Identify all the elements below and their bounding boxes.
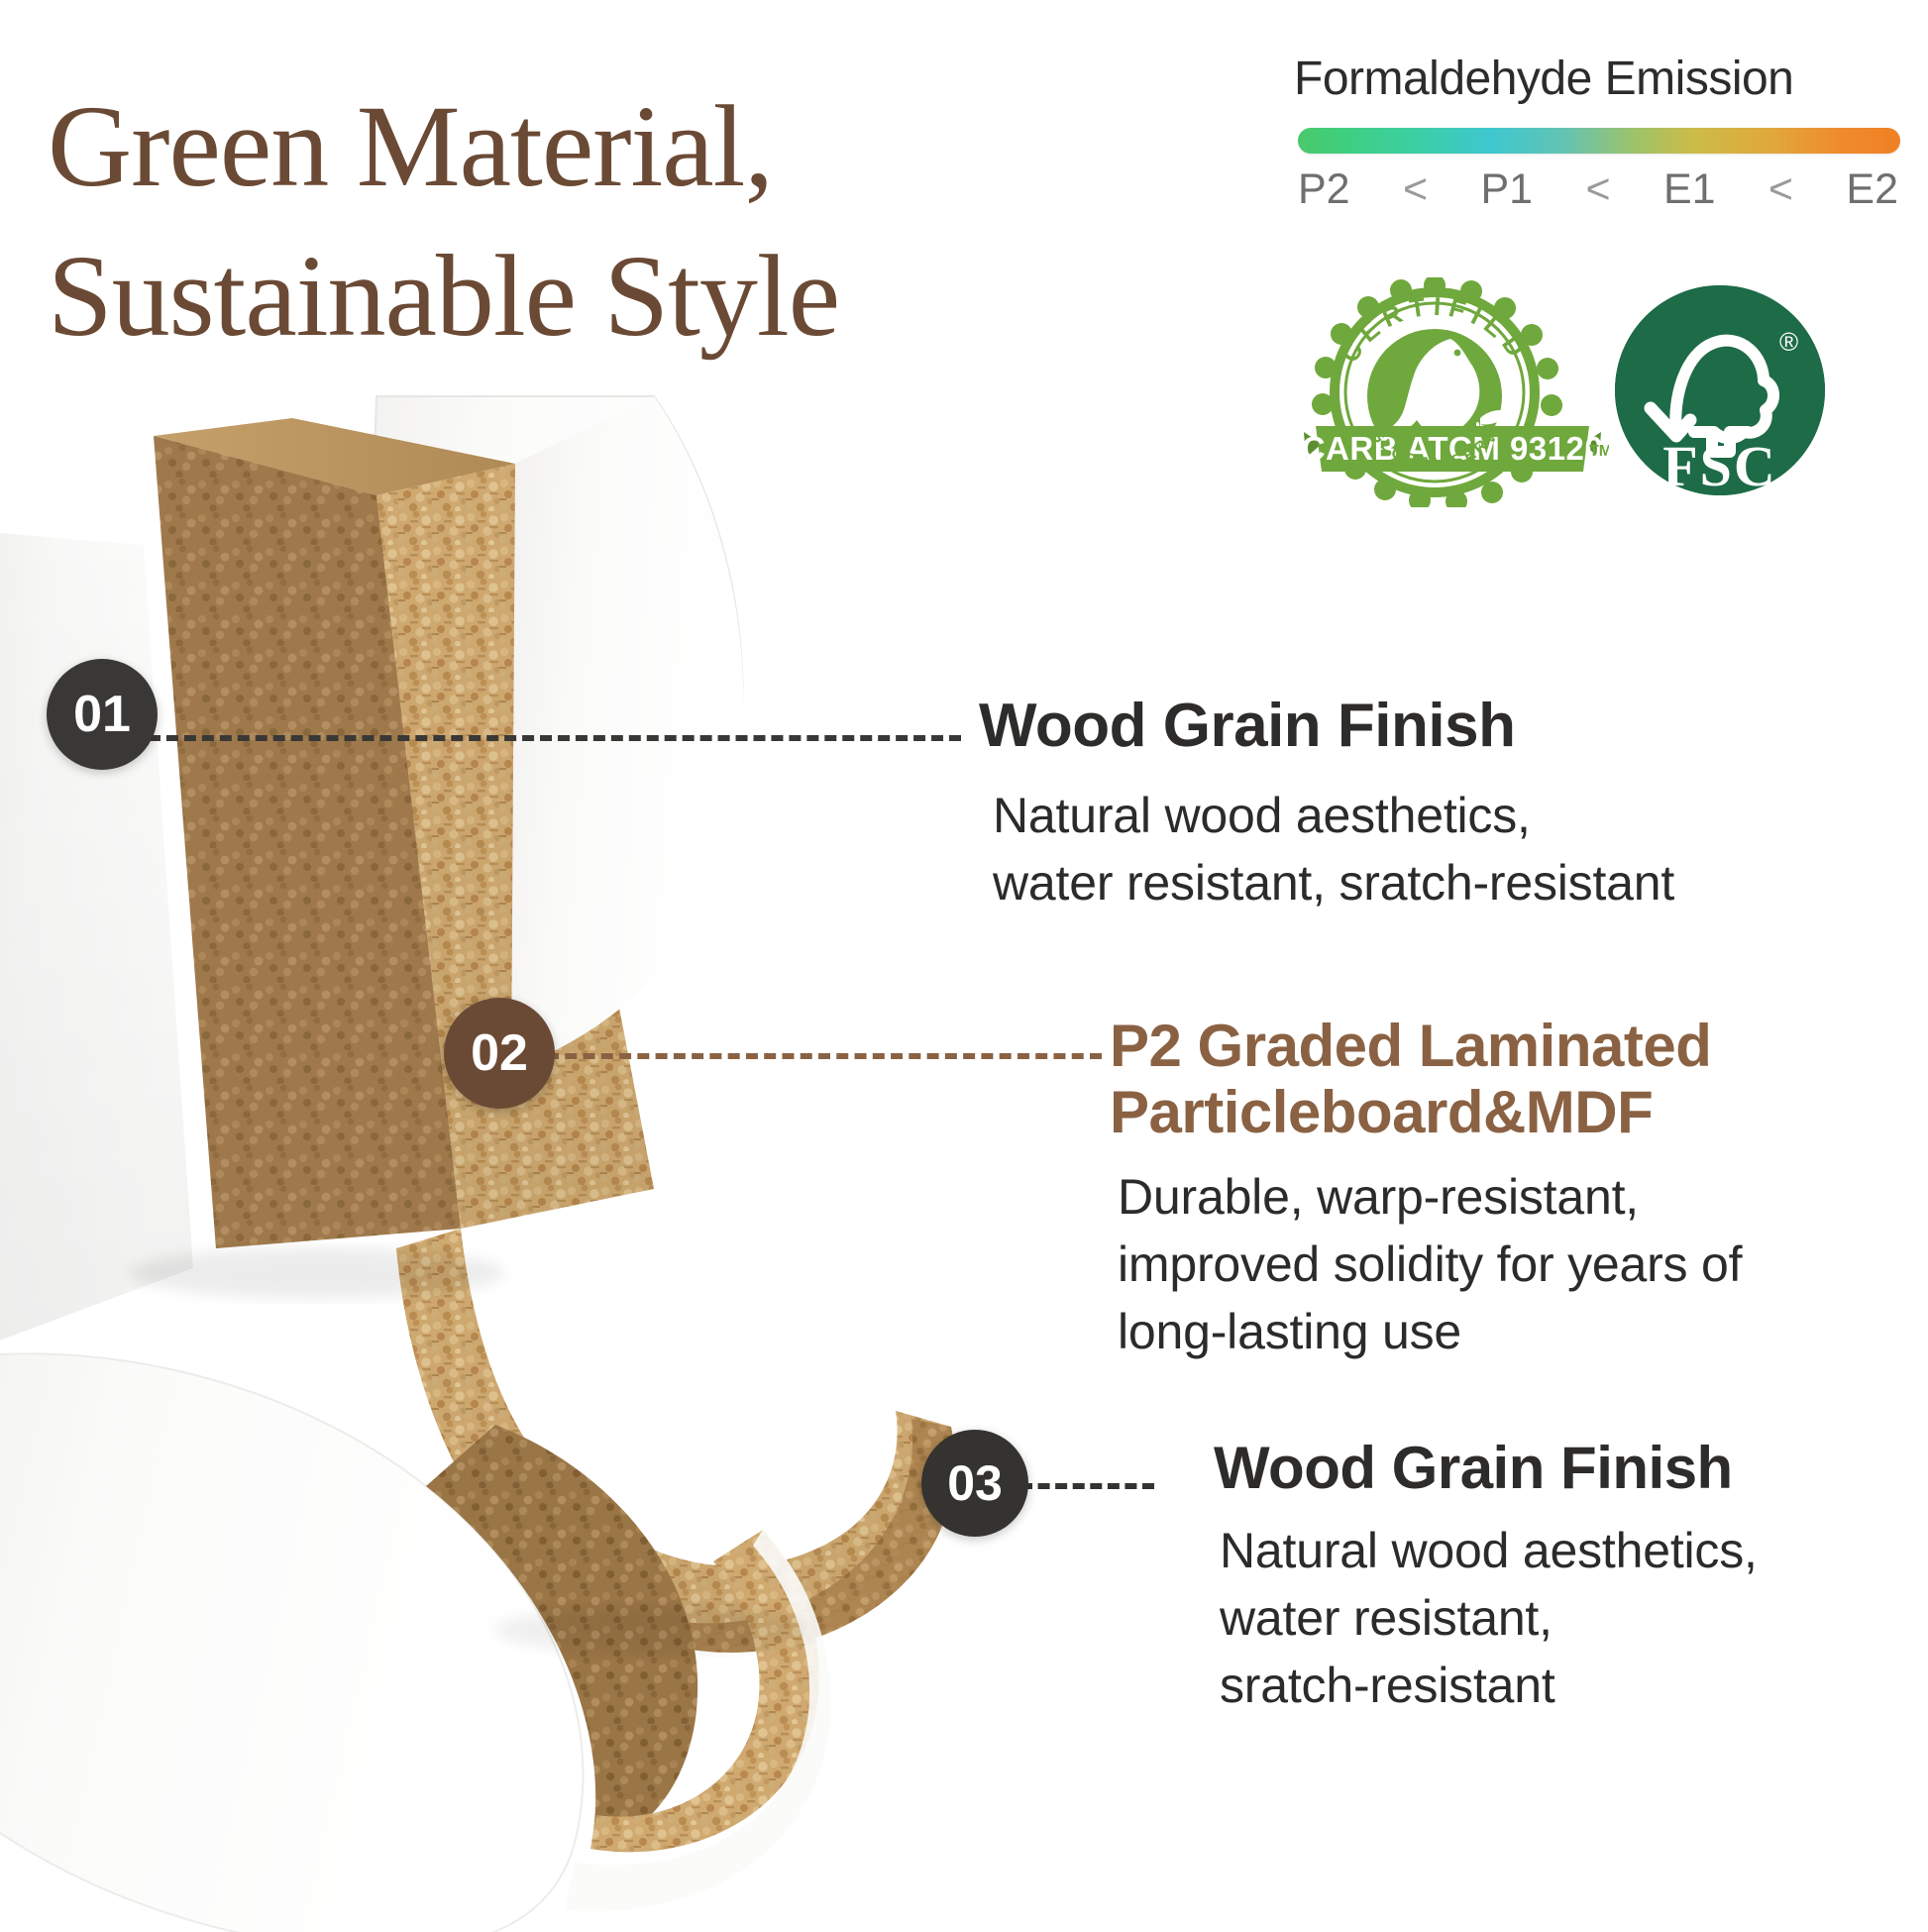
callout-02-heading: P2 Graded Laminated Particleboard&MDF [1110,1013,1922,1145]
callout-01-heading: Wood Grain Finish [979,692,1871,760]
certification-badge-row: CERTIFIED CARB ATCM 93120 TM SCS GLOBAL … [1288,273,1922,511]
page-title-line-1: Green Material, [48,71,1048,221]
callout-02-heading-line-1: P2 Graded Laminated [1110,1013,1922,1079]
emission-lt-2: < [1533,165,1663,214]
emission-scale: P2 < P1 < E1 < E2 [1298,165,1898,214]
callout-01: Wood Grain Finish Natural wood aesthetic… [979,692,1871,916]
callout-02-body-line-1: Durable, warp-resistant, [1118,1163,1922,1231]
callout-03-heading: Wood Grain Finish [1214,1435,1928,1501]
emission-grade-p2: P2 [1298,165,1350,214]
callout-badge-03[interactable]: 03 [921,1430,1028,1537]
callout-badge-01[interactable]: 01 [47,659,158,770]
callout-02-body-line-2: improved solidity for years of [1118,1231,1922,1298]
fsc-certified-seal-icon: ® FSC [1615,285,1825,495]
callout-02-heading-line-2: Particleboard&MDF [1110,1079,1922,1145]
callout-03: Wood Grain Finish Natural wood aesthetic… [1214,1435,1928,1719]
callout-02-body-line-3: long-lasting use [1118,1298,1922,1365]
formaldehyde-emission-panel: Formaldehyde Emission P2 < P1 < E1 < E2 [1278,52,1918,250]
callout-03-body-line-2: water resistant, [1220,1584,1928,1652]
callout-leader-line-02 [547,1053,1102,1059]
callout-03-body-line-1: Natural wood aesthetics, [1220,1517,1928,1584]
callout-02: P2 Graded Laminated Particleboard&MDF Du… [1110,1013,1922,1365]
carb-trademark: TM [1589,443,1609,460]
callout-03-body-line-3: sratch-resistant [1220,1652,1928,1719]
board-cross-section-illustration [0,376,1030,1932]
emission-grade-p1: P1 [1480,165,1533,214]
emission-grade-e2: E2 [1846,165,1898,214]
page-title: Green Material, Sustainable Style [48,71,1048,371]
callout-leader-line-01 [149,735,961,741]
callout-02-body: Durable, warp-resistant, improved solidi… [1110,1163,1922,1365]
fsc-label: FSC [1662,434,1777,495]
callout-01-body-line-1: Natural wood aesthetics, [993,782,1871,849]
emission-lt-1: < [1350,165,1481,214]
callout-01-body: Natural wood aesthetics, water resistant… [979,782,1871,916]
emission-grade-e1: E1 [1663,165,1716,214]
emission-lt-3: < [1716,165,1847,214]
callout-03-body: Natural wood aesthetics, water resistant… [1214,1517,1928,1719]
callout-badge-02[interactable]: 02 [444,998,555,1109]
back-white-veneer [0,525,193,1377]
emission-gradient-bar [1298,128,1900,154]
callout-leader-line-03 [1020,1483,1154,1489]
carb-certified-seal-icon: CERTIFIED CARB ATCM 93120 TM SCS GLOBAL … [1296,277,1609,507]
callout-01-body-line-2: water resistant, sratch-resistant [993,849,1871,916]
emission-heading: Formaldehyde Emission [1294,52,1918,106]
page-title-line-2: Sustainable Style [48,221,1048,371]
fsc-registered-mark: ® [1779,327,1798,357]
